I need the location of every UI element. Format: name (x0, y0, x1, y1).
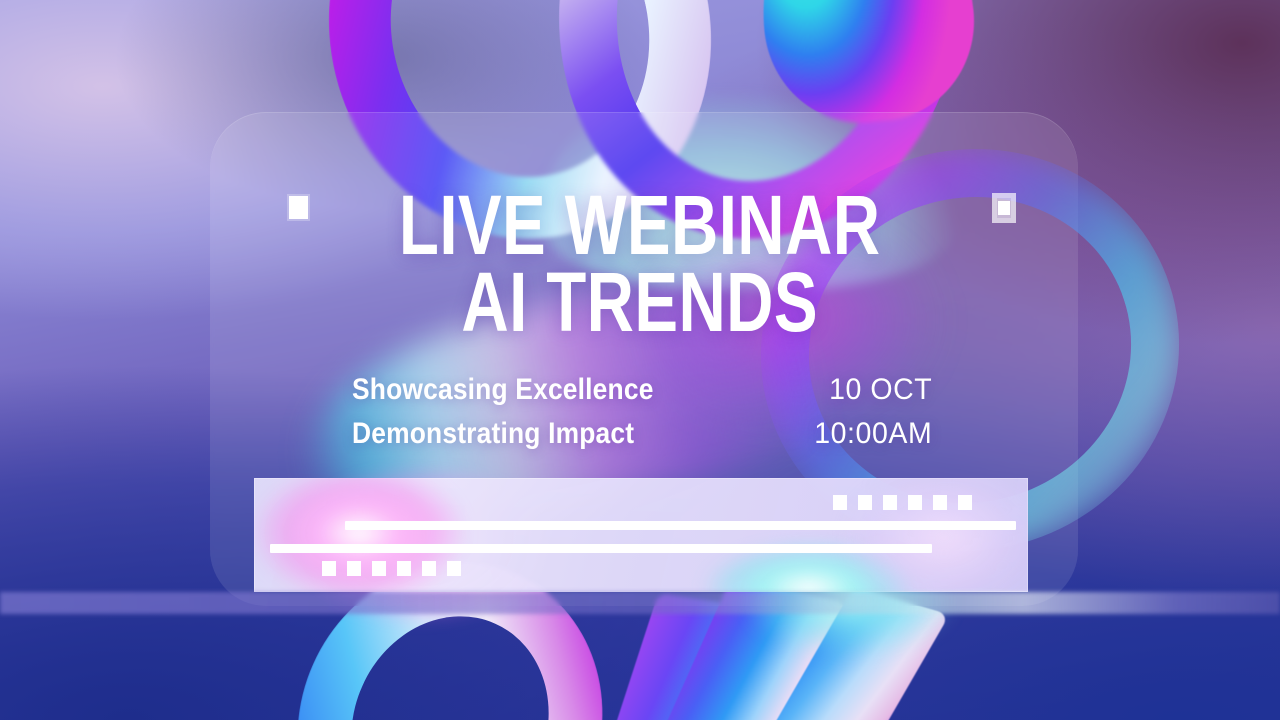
headline-line-1: LIVE WEBINAR (399, 189, 881, 261)
subtitle-line-1: Showcasing Excellence (352, 368, 654, 412)
bottom-decorative-bar (254, 478, 1028, 592)
square-dot-icon (958, 495, 972, 510)
square-dot-icon (858, 495, 872, 510)
subtitle-line-2: Demonstrating Impact (352, 412, 654, 456)
square-dot-icon (322, 561, 336, 576)
subtitle-schedule-row: Showcasing Excellence Demonstrating Impa… (352, 368, 932, 455)
square-dot-icon (908, 495, 922, 510)
square-dot-icon (372, 561, 386, 576)
subtitle-block: Showcasing Excellence Demonstrating Impa… (352, 368, 654, 455)
square-dot-icon (447, 561, 461, 576)
headline-line-2: AI TRENDS (399, 266, 881, 338)
square-dot-icon (397, 561, 411, 576)
webinar-poster: LIVE WEBINAR AI TRENDS Showcasing Excell… (0, 0, 1280, 720)
schedule-date: 10 OCT (814, 368, 932, 412)
bar-dots-bottom-left (322, 561, 461, 576)
headline-block: LIVE WEBINAR AI TRENDS (0, 168, 1280, 359)
square-dot-icon (883, 495, 897, 510)
under-bar-light-band (0, 592, 1280, 614)
schedule-time: 10:00AM (814, 412, 932, 456)
square-dot-icon (422, 561, 436, 576)
square-dot-icon (347, 561, 361, 576)
schedule-block: 10 OCT 10:00AM (814, 368, 932, 455)
square-dot-icon (933, 495, 947, 510)
bar-line-lower (270, 544, 932, 553)
bar-line-upper (345, 521, 1016, 530)
page-title: LIVE WEBINAR AI TRENDS (331, 189, 948, 337)
bar-dots-top-right (833, 495, 972, 510)
square-dot-icon (833, 495, 847, 510)
poster-content: LIVE WEBINAR AI TRENDS Showcasing Excell… (0, 0, 1280, 720)
